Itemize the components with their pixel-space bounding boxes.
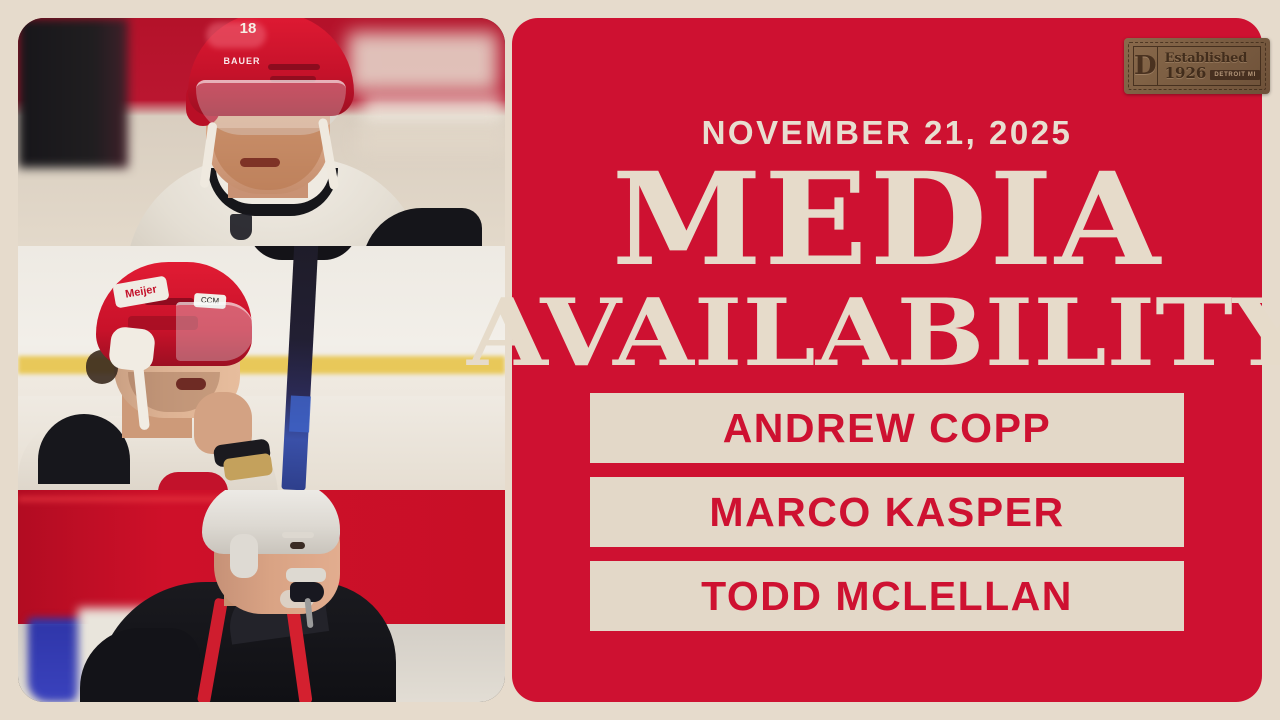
coach-sideburn — [230, 534, 258, 578]
coach-eye — [290, 542, 305, 549]
helmet-vent — [268, 64, 320, 70]
badge-year: 1926 — [1165, 66, 1207, 81]
participant-name: TODD MCLELLAN — [701, 573, 1073, 620]
badge-established-label: Established — [1165, 52, 1260, 65]
helmet-brand-label: BAUER — [214, 56, 270, 67]
background-board-blur — [348, 32, 498, 92]
helmet-visor — [176, 302, 254, 361]
participant-row: MARCO KASPER — [590, 477, 1184, 547]
nhl-shield-logo — [230, 214, 252, 240]
background-board-blur — [363, 96, 503, 124]
participant-list: ANDREW COPP MARCO KASPER TODD MCLELLAN — [590, 393, 1184, 645]
hockey-stick-graphic — [289, 396, 311, 433]
badge-city-tag: DETROIT MI — [1210, 70, 1260, 80]
coach-hair — [202, 490, 340, 554]
coach-brow — [282, 532, 314, 538]
badge-monogram-section: D — [1134, 47, 1158, 85]
background-dark-panel — [18, 18, 128, 168]
photo-player-kasper: Meijer CCM — [18, 246, 505, 490]
player-mouth — [240, 158, 280, 167]
helmet-number: 18 — [226, 20, 270, 36]
badge-year-row: 1926 DETROIT MI — [1165, 66, 1260, 81]
photo-coach-mclellan — [18, 490, 505, 702]
media-availability-graphic: 18 BAUER — [0, 0, 1280, 720]
title-panel: NOVEMBER 21, 2025 MEDIA AVAILABILITY AND… — [512, 18, 1262, 702]
photo-collage: 18 BAUER — [18, 18, 505, 702]
participant-name: MARCO KASPER — [709, 489, 1064, 536]
helmet-ear-cup — [108, 326, 156, 372]
participant-row: ANDREW COPP — [590, 393, 1184, 463]
established-badge: D Established 1926 DETROIT MI — [1124, 38, 1270, 94]
headline-availability: AVAILABILITY — [467, 286, 1280, 379]
badge-text-section: Established 1926 DETROIT MI — [1158, 47, 1260, 85]
detroit-d-logo-icon: D — [1134, 53, 1157, 79]
headline-media: MEDIA — [490, 156, 1280, 284]
background-board-blur — [358, 130, 505, 152]
player-mouth — [176, 378, 206, 390]
jersey-red-accent — [158, 472, 228, 490]
coach-mustache — [286, 568, 326, 582]
badge-frame: D Established 1926 DETROIT MI — [1133, 46, 1261, 86]
participant-row: TODD MCLELLAN — [590, 561, 1184, 631]
photo-player-copp: 18 BAUER — [18, 18, 505, 246]
participant-name: ANDREW COPP — [723, 405, 1052, 452]
